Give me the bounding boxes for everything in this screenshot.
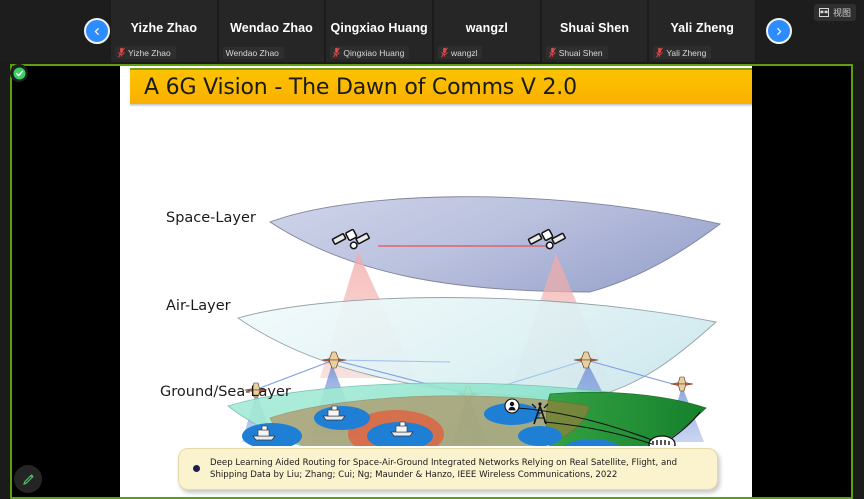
sagin-layer-diagram: Space-Layer Air-Layer Ground/Sea-Layer bbox=[120, 106, 752, 446]
mic-muted-icon bbox=[333, 47, 340, 58]
participant-badge-2: Qingxiao Huang bbox=[330, 46, 409, 59]
participant-badge-label-5: Yali Zheng bbox=[666, 48, 706, 58]
participant-badge-1: Wendao Zhao bbox=[223, 47, 284, 59]
shared-screen-region: A 6G Vision - The Dawn of Comms V 2.0 bbox=[10, 64, 853, 499]
slide-title-bar: A 6G Vision - The Dawn of Comms V 2.0 bbox=[130, 68, 752, 104]
participant-tile-5[interactable]: Yali Zheng Yali Zheng bbox=[648, 0, 756, 62]
mic-muted-icon bbox=[549, 47, 556, 58]
participant-tiles: Yizhe Zhao Yizhe Zhao Wendao Zhao Wendao… bbox=[110, 0, 756, 62]
page-title: A 6G Vision - The Dawn of Comms V 2.0 bbox=[130, 75, 577, 100]
grid-view-icon bbox=[819, 8, 829, 17]
filmstrip-left-pad bbox=[0, 0, 110, 62]
filmstrip-right-pad: 视图 bbox=[756, 0, 864, 62]
participant-name-3: wangzl bbox=[466, 21, 508, 35]
participant-badge-label-2: Qingxiao Huang bbox=[343, 48, 404, 58]
annotate-button[interactable] bbox=[14, 465, 42, 493]
filmstrip-next-button[interactable] bbox=[766, 18, 792, 44]
participant-tile-4[interactable]: Shuai Shen Shuai Shen bbox=[541, 0, 649, 62]
participant-badge-0: Yizhe Zhao bbox=[115, 46, 176, 59]
chevron-left-icon bbox=[92, 27, 102, 36]
check-shield-icon bbox=[13, 67, 26, 80]
sea-patch bbox=[518, 426, 562, 446]
mic-muted-icon bbox=[441, 47, 448, 58]
presentation-slide: A 6G Vision - The Dawn of Comms V 2.0 bbox=[120, 66, 752, 497]
layer-label-air: Air-Layer bbox=[166, 298, 231, 314]
mic-muted-icon bbox=[656, 47, 663, 58]
participant-name-5: Yali Zheng bbox=[670, 21, 734, 35]
participant-badge-3: wangzl bbox=[438, 46, 482, 59]
participant-name-1: Wendao Zhao bbox=[230, 21, 313, 35]
participant-badge-4: Shuai Shen bbox=[546, 46, 608, 59]
view-layout-button[interactable]: 视图 bbox=[814, 4, 856, 21]
share-status-badge bbox=[10, 64, 28, 82]
participant-tile-0[interactable]: Yizhe Zhao Yizhe Zhao bbox=[110, 0, 218, 62]
participant-filmstrip: Yizhe Zhao Yizhe Zhao Wendao Zhao Wendao… bbox=[0, 0, 864, 62]
participant-badge-label-3: wangzl bbox=[451, 48, 477, 58]
aircraft-icon bbox=[671, 377, 693, 391]
layer-label-space: Space-Layer bbox=[166, 210, 256, 226]
user-icon bbox=[505, 399, 519, 413]
participant-name-4: Shuai Shen bbox=[560, 21, 629, 35]
view-layout-label: 视图 bbox=[833, 6, 851, 19]
participant-badge-label-0: Yizhe Zhao bbox=[128, 48, 171, 58]
participant-tile-1[interactable]: Wendao Zhao Wendao Zhao bbox=[218, 0, 326, 62]
zoom-meeting-window: Yizhe Zhao Yizhe Zhao Wendao Zhao Wendao… bbox=[0, 0, 864, 499]
participant-badge-label-1: Wendao Zhao bbox=[226, 48, 279, 58]
mic-muted-icon bbox=[118, 47, 125, 58]
pen-icon bbox=[21, 472, 36, 487]
participant-tile-2[interactable]: Qingxiao Huang Qingxiao Huang bbox=[325, 0, 433, 62]
participant-name-0: Yizhe Zhao bbox=[131, 21, 198, 35]
bullet-icon bbox=[193, 465, 200, 472]
space-layer-plane bbox=[270, 197, 720, 292]
citation-text: Deep Learning Aided Routing for Space-Ai… bbox=[210, 457, 707, 482]
participant-name-2: Qingxiao Huang bbox=[331, 21, 428, 35]
participant-badge-label-4: Shuai Shen bbox=[559, 48, 603, 58]
layer-label-ground: Ground/Sea-Layer bbox=[160, 384, 291, 400]
chevron-right-icon bbox=[774, 27, 784, 36]
participant-badge-5: Yali Zheng bbox=[653, 46, 711, 59]
citation-callout: Deep Learning Aided Routing for Space-Ai… bbox=[178, 448, 718, 490]
participant-tile-3[interactable]: wangzl wangzl bbox=[433, 0, 541, 62]
filmstrip-prev-button[interactable] bbox=[84, 18, 110, 44]
